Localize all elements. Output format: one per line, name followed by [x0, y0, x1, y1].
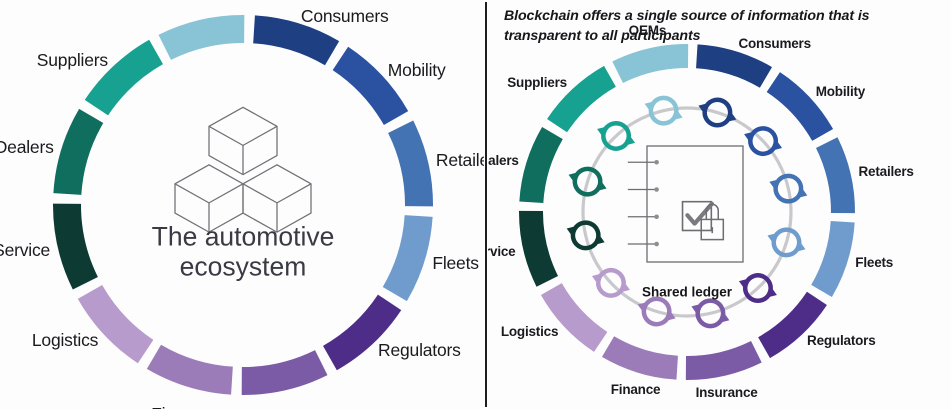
- segment-label-fleets: Fleets: [432, 254, 478, 272]
- ring-segment-retailers[interactable]: [816, 137, 855, 213]
- segment-label-insurance: Insurance: [696, 386, 758, 400]
- left-panel: ConsumersMobilityRetailersFleetsRegulato…: [0, 0, 484, 409]
- three-cubes-icon: [175, 107, 311, 232]
- segment-label-oems: OEMs: [172, 0, 220, 2]
- ring-segment-consumers[interactable]: [696, 44, 772, 87]
- ring-segment-insurance[interactable]: [242, 350, 328, 395]
- ring-segment-logistics[interactable]: [541, 283, 607, 352]
- segment-label-suppliers: Suppliers: [507, 76, 567, 90]
- segment-label-finance: Finance: [151, 405, 212, 409]
- segment-label-retailers: Retailers: [436, 151, 484, 169]
- shared-ledger-icon: [628, 146, 743, 262]
- figure-root: ConsumersMobilityRetailersFleetsRegulato…: [0, 0, 951, 409]
- center-title-line2: ecosystem: [152, 252, 335, 282]
- segment-label-logistics: Logistics: [501, 325, 558, 339]
- ring-segment-service[interactable]: [519, 211, 558, 287]
- segment-label-regulators: Regulators: [378, 341, 461, 359]
- ring-segment-regulators[interactable]: [758, 292, 827, 358]
- ring-segment-insurance[interactable]: [686, 341, 762, 380]
- segment-label-consumers: Consumers: [738, 37, 810, 51]
- shared-ledger-caption: Shared ledger: [642, 285, 732, 300]
- segment-label-suppliers: Suppliers: [37, 51, 108, 69]
- ring-segment-retailers[interactable]: [388, 121, 433, 207]
- segment-label-service: Service: [488, 244, 516, 258]
- segment-label-logistics: Logistics: [32, 331, 98, 349]
- ring-segment-oems[interactable]: [612, 44, 688, 83]
- segment-label-dealers: Dealers: [488, 153, 519, 167]
- ring-segment-fleets[interactable]: [811, 221, 854, 297]
- segment-label-finance: Finance: [611, 383, 661, 397]
- ring-segment-finance[interactable]: [602, 336, 678, 379]
- segment-label-regulators: Regulators: [807, 334, 876, 348]
- ring-segment-oems[interactable]: [159, 15, 245, 60]
- panel-divider: [485, 2, 487, 407]
- segment-label-mobility: Mobility: [388, 61, 446, 79]
- ring-segment-mobility[interactable]: [333, 47, 409, 125]
- ring-segment-finance[interactable]: [147, 345, 233, 395]
- right-panel: Blockchain offers a single source of inf…: [488, 0, 951, 409]
- ring-segment-service[interactable]: [53, 204, 98, 290]
- segment-label-oems: OEMs: [629, 23, 666, 37]
- center-title: The automotive ecosystem: [152, 222, 335, 283]
- ring-segment-dealers[interactable]: [53, 109, 103, 195]
- segment-label-fleets: Fleets: [855, 256, 893, 270]
- right-ring-svg: [488, 0, 951, 409]
- center-title-line1: The automotive: [152, 222, 335, 252]
- segment-label-consumers: Consumers: [301, 6, 389, 24]
- ring-segment-dealers[interactable]: [519, 127, 562, 203]
- segment-label-dealers: Dealers: [0, 138, 54, 156]
- segment-label-service: Service: [0, 240, 50, 258]
- ring-segment-mobility[interactable]: [767, 72, 833, 141]
- ring-segment-fleets[interactable]: [383, 215, 433, 301]
- segment-label-mobility: Mobility: [816, 85, 865, 99]
- segment-label-retailers: Retailers: [858, 165, 913, 179]
- ring-segment-logistics[interactable]: [78, 285, 154, 363]
